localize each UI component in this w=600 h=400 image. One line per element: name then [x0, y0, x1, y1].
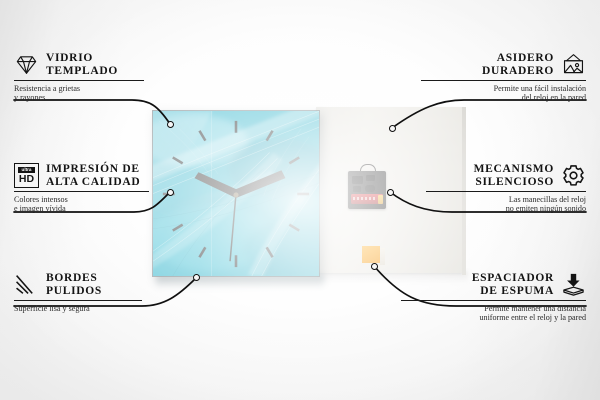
feature-divider	[421, 80, 586, 81]
feature-title-line1: VIDRIO	[46, 52, 118, 65]
battery-terminal	[378, 195, 383, 204]
wall-clock-product	[152, 110, 320, 277]
feature-desc-line1: Permite mantener una distancia	[401, 304, 586, 314]
feature-mecanismo-silencioso: MECANISMO SILENCIOSO Las manecillas del …	[426, 163, 586, 214]
feature-heading-row: MECANISMO SILENCIOSO	[426, 163, 586, 188]
feature-title-line2: DURADERO	[482, 65, 554, 78]
infographic-canvas: VIDRIO TEMPLADO Resistencia a grietas y …	[0, 0, 600, 400]
feature-divider	[14, 300, 142, 301]
connector-dot-asidero	[389, 125, 396, 132]
mechanism-detail	[352, 176, 363, 184]
feature-bordes-pulidos: BORDES PULIDOS Superficie lisa y segura	[14, 272, 142, 313]
feature-title-line1: ASIDERO	[482, 52, 554, 65]
mechanism-detail	[353, 186, 361, 192]
polished-edges-icon	[14, 272, 39, 297]
feature-title-line1: BORDES	[46, 272, 102, 285]
feature-title-line2: ALTA CALIDAD	[46, 176, 140, 189]
feature-title-line2: DE ESPUMA	[472, 285, 554, 298]
feature-desc-line2: y rayones	[14, 93, 144, 103]
wall-hanger-icon	[561, 52, 586, 77]
connector-dot-bordes	[193, 274, 200, 281]
feature-desc-line2: uniforme entre el reloj y la pared	[401, 313, 586, 323]
feature-heading-row: ESPACIADOR DE ESPUMA	[401, 272, 586, 297]
feature-heading-row: ultra HD IMPRESIÓN DE ALTA CALIDAD	[14, 163, 149, 188]
glass-gloss	[153, 111, 319, 276]
feature-impresion-alta-calidad: ultra HD IMPRESIÓN DE ALTA CALIDAD Color…	[14, 163, 149, 214]
feature-divider	[401, 300, 586, 301]
mechanism-detail	[366, 175, 375, 181]
gear-icon	[561, 163, 586, 188]
feature-divider	[426, 191, 586, 192]
feature-heading-row: VIDRIO TEMPLADO	[14, 52, 144, 77]
feature-heading-row: BORDES PULIDOS	[14, 272, 142, 297]
feature-desc-line1: Permite una fácil instalación	[421, 84, 586, 94]
connector-dot-espaciador	[371, 263, 378, 270]
connector-dot-mecanismo	[387, 189, 394, 196]
feature-title-line1: ESPACIADOR	[472, 272, 554, 285]
clock-shadow	[156, 275, 324, 289]
feature-vidrio-templado: VIDRIO TEMPLADO Resistencia a grietas y …	[14, 52, 144, 103]
feature-espaciador-espuma: ESPACIADOR DE ESPUMA Permite mantener un…	[401, 272, 586, 323]
ultra-hd-icon-main-text: HD	[15, 173, 38, 185]
feature-desc-line2: no emiten ningún sonido	[426, 204, 586, 214]
foam-spacer-icon	[561, 272, 586, 297]
ultra-hd-icon: ultra HD	[14, 163, 39, 188]
connector-dot-vidrio	[167, 121, 174, 128]
feature-desc-line1: Colores intensos	[14, 195, 149, 205]
feature-title-line1: MECANISMO	[474, 163, 554, 176]
mechanism-detail	[365, 185, 375, 192]
feature-heading-row: ASIDERO DURADERO	[421, 52, 586, 77]
feature-desc-line2: e imagen vívida	[14, 204, 149, 214]
feature-desc-line1: Las manecillas del reloj	[426, 195, 586, 205]
feature-title-line2: SILENCIOSO	[474, 176, 554, 189]
feature-title-line2: TEMPLADO	[46, 65, 118, 78]
feature-divider	[14, 80, 144, 81]
clock-mechanism	[348, 170, 386, 210]
feature-title-line2: PULIDOS	[46, 285, 102, 298]
feature-desc-line2: del reloj en la pared	[421, 93, 586, 103]
feature-divider	[14, 191, 149, 192]
feature-desc-line1: Resistencia a grietas	[14, 84, 144, 94]
feature-title-line1: IMPRESIÓN DE	[46, 163, 140, 176]
diamond-icon	[14, 52, 39, 77]
connector-dot-impresion	[167, 189, 174, 196]
foam-spacer-side	[380, 248, 385, 265]
feature-asidero-duradero: ASIDERO DURADERO Permite una fácil insta…	[421, 52, 586, 103]
battery-label	[353, 197, 375, 200]
foam-spacer-part	[362, 246, 380, 263]
feature-desc-line1: Superficie lisa y segura	[14, 304, 142, 314]
